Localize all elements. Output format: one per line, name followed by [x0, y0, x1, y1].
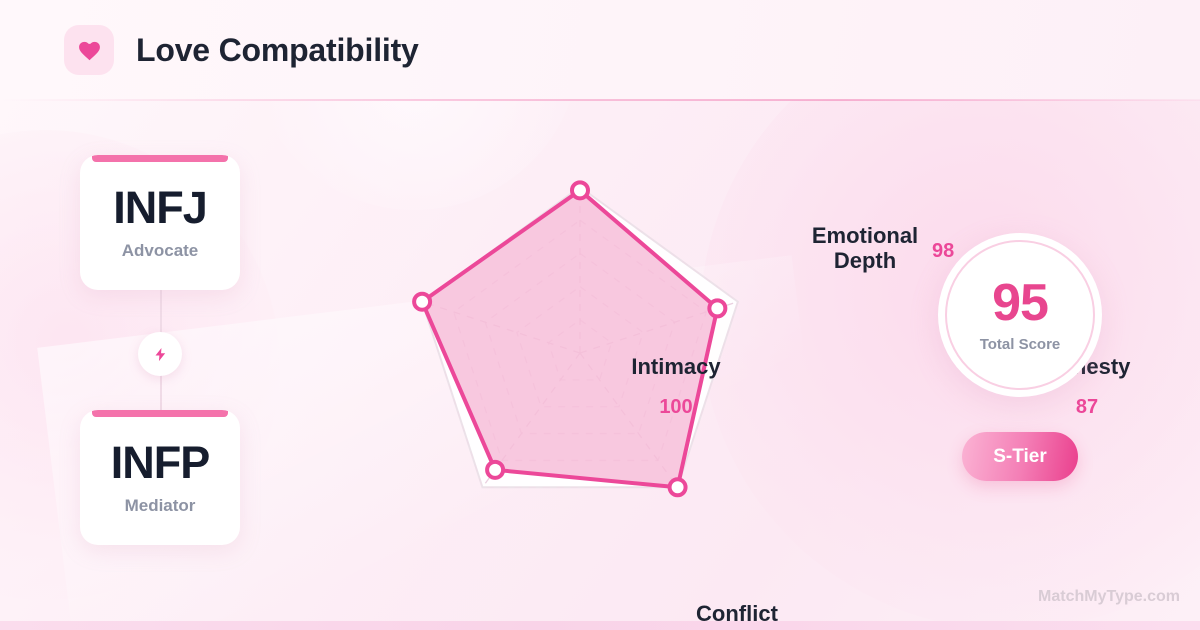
- type-card-first[interactable]: INFJ Advocate: [80, 155, 240, 290]
- bottom-accent-bar: [0, 621, 1200, 630]
- type-code: INFJ: [113, 185, 207, 230]
- type-card-accent-bar: [92, 410, 228, 417]
- page-title: Love Compatibility: [136, 32, 419, 69]
- tier-badge[interactable]: S-Tier: [962, 432, 1078, 481]
- lightning-bolt-icon: [138, 332, 182, 376]
- type-name: Advocate: [122, 241, 199, 261]
- compatibility-card: Love Compatibility INFJ Advocate INFP Me…: [0, 0, 1200, 630]
- radar-point-0: [572, 182, 588, 198]
- radar-point-4: [414, 294, 430, 310]
- radar-point-1: [709, 300, 725, 316]
- site-watermark: MatchMyType.com: [1038, 588, 1180, 606]
- radar-data-area: [422, 190, 717, 487]
- radar-chart-svg: [300, 100, 880, 630]
- type-card-second[interactable]: INFP Mediator: [80, 410, 240, 545]
- type-card-accent-bar: [92, 155, 228, 162]
- radar-point-3: [487, 462, 503, 478]
- type-name: Mediator: [125, 496, 196, 516]
- axis-value-emotional-depth: 98: [932, 240, 954, 263]
- tier-badge-label: S-Tier: [993, 446, 1047, 468]
- axis-value-honesty: 87: [1012, 396, 1162, 419]
- radar-point-2: [670, 479, 686, 495]
- axis-label-intimacy: Intimacy: [600, 355, 752, 380]
- axis-value-intimacy: 100: [600, 396, 752, 419]
- heart-icon: [64, 25, 114, 75]
- total-score-label: Total Score: [980, 336, 1061, 353]
- header-bar: Love Compatibility: [0, 0, 1200, 100]
- header-divider: [0, 99, 1200, 101]
- total-score-value: 95: [992, 277, 1048, 329]
- radar-chart: Emotional Depth Honesty Intimacy Conflic…: [300, 100, 880, 630]
- type-code: INFP: [111, 440, 210, 485]
- total-score-circle: 95 Total Score: [938, 233, 1102, 397]
